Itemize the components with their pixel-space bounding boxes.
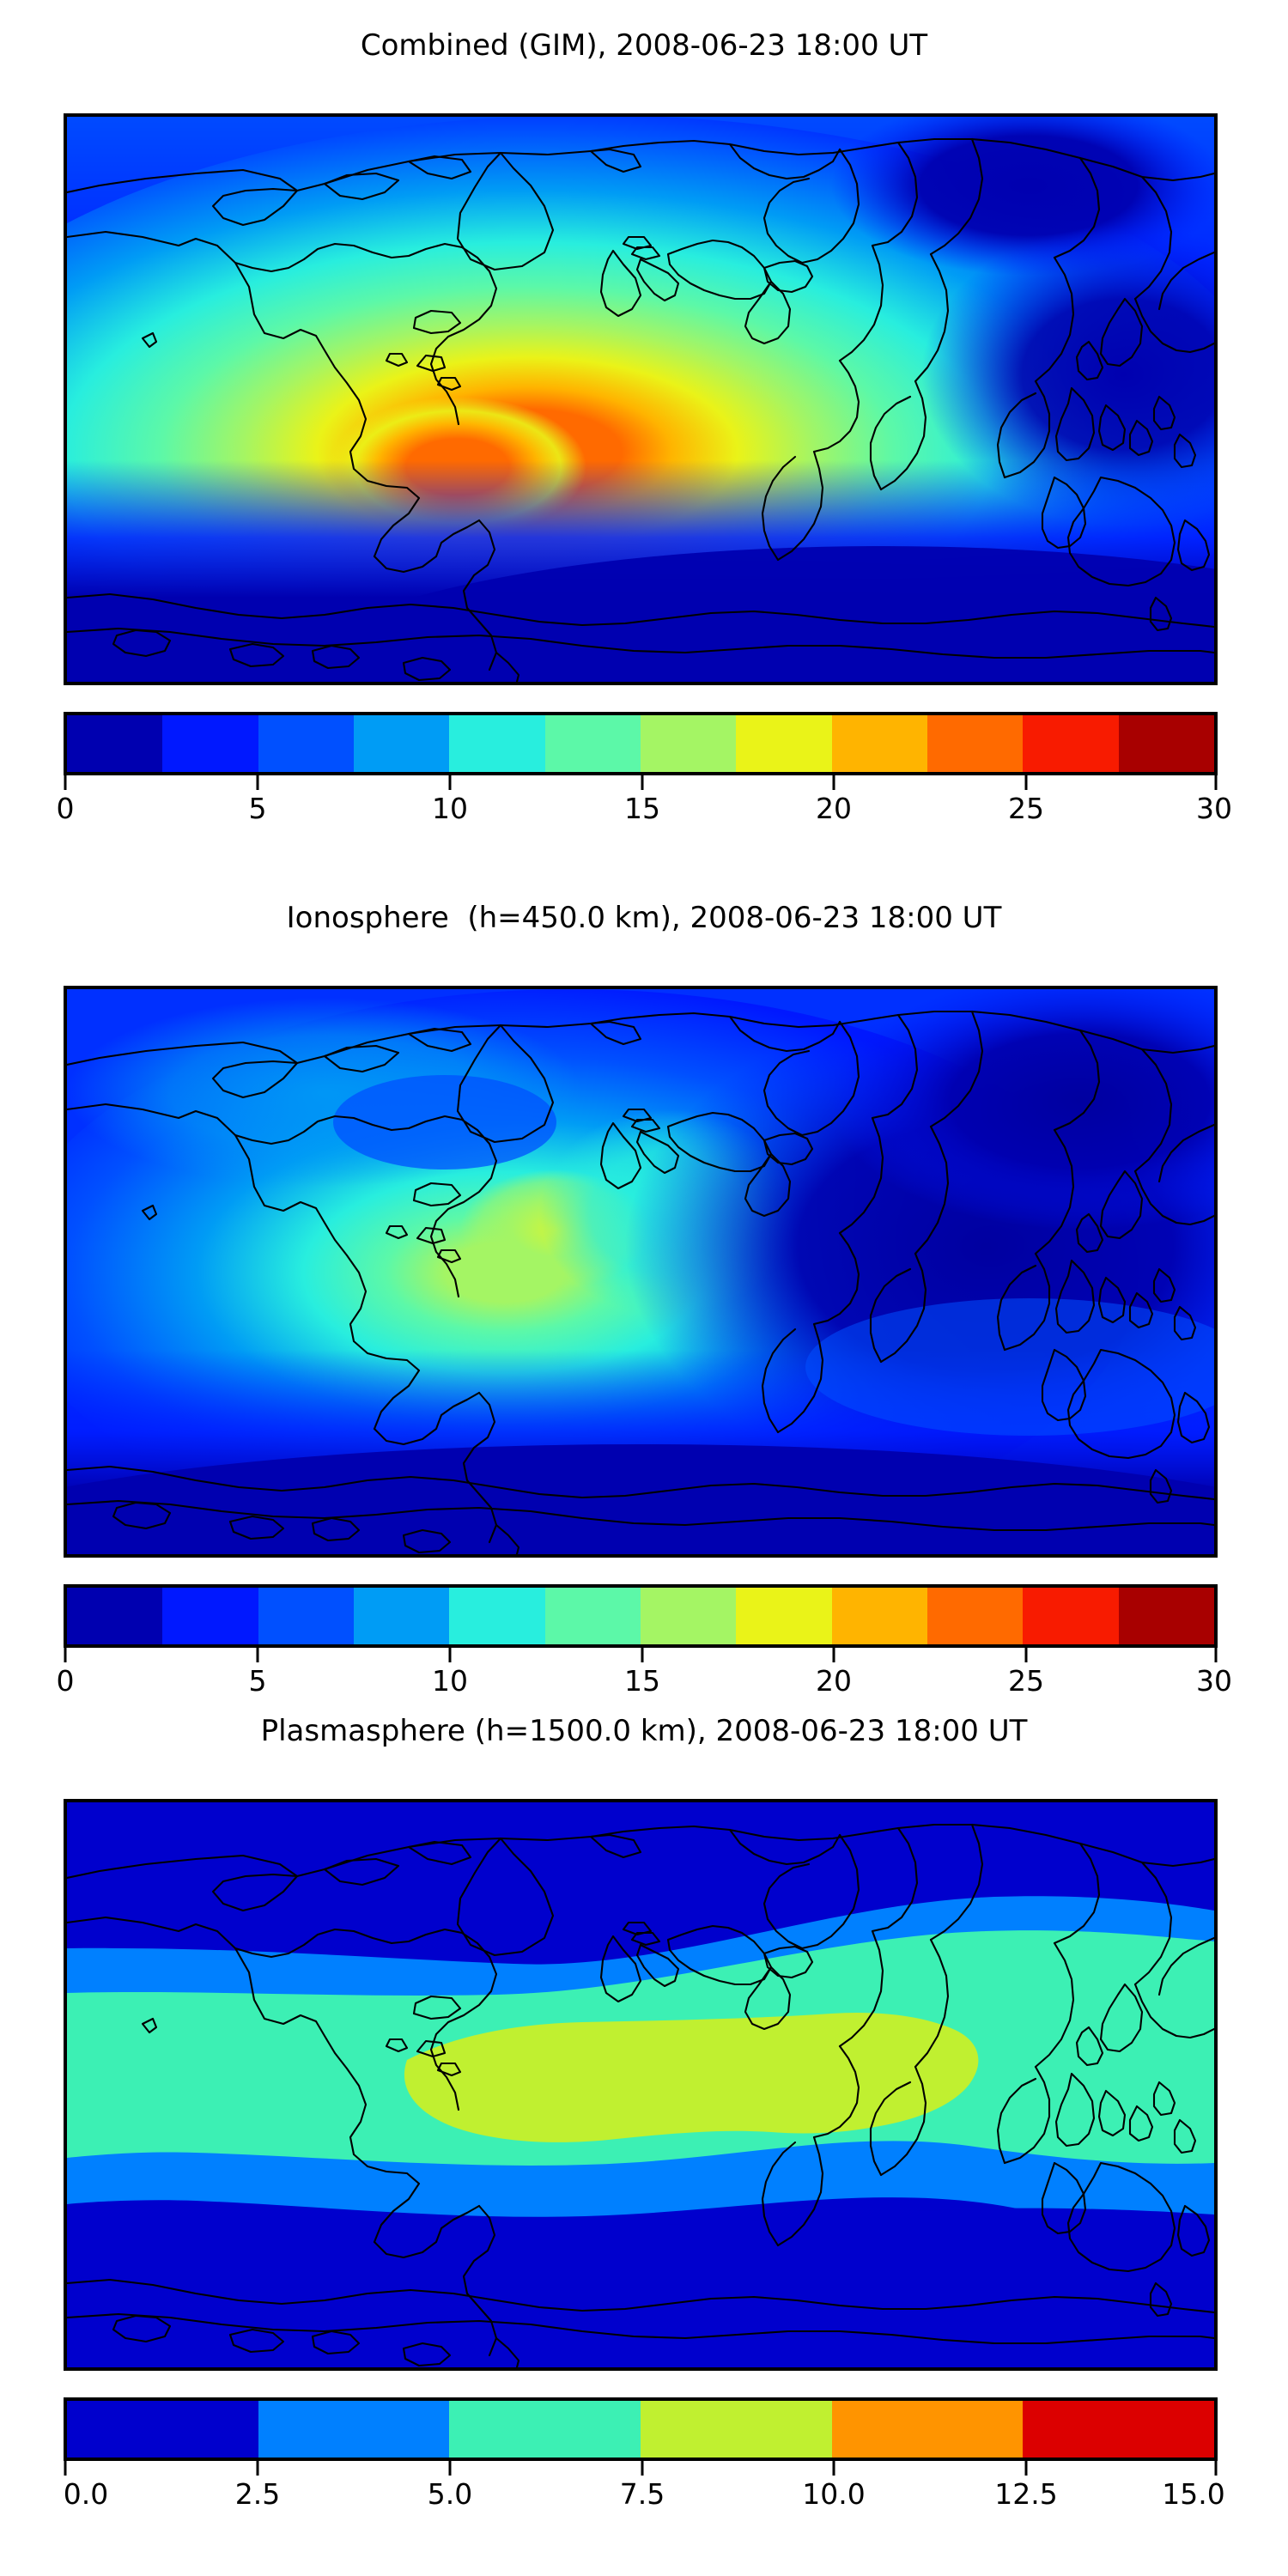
colorbar-plasmasphere-tick-3: 7.5 — [620, 2477, 665, 2511]
colorbar-plasmasphere-axis: 0.0 2.5 5.0 7.5 10.0 12.5 15.0 — [64, 2461, 1218, 2518]
coastlines-plasmasphere — [67, 1802, 1214, 2367]
colorbar-plasmasphere-tick-4: 10.0 — [802, 2477, 865, 2511]
coastlines-ionosphere — [67, 989, 1214, 1554]
map-ionosphere — [64, 986, 1218, 1558]
tec-figure: Combined (GIM), 2008-06-23 18:00 UT — [0, 0, 1288, 2576]
panel-title-plasmasphere: Plasmasphere (h=1500.0 km), 2008-06-23 1… — [0, 1714, 1288, 1748]
colorbar-ionosphere-tick-0: 0 — [57, 1664, 75, 1698]
colorbar-plasmasphere-tick-1: 2.5 — [235, 2477, 280, 2511]
map-plasmasphere — [64, 1799, 1218, 2371]
colorbar-plasmasphere-tick-2: 5.0 — [428, 2477, 472, 2511]
colorbar-ionosphere-tick-6: 30 — [1196, 1664, 1232, 1698]
colorbar-ionosphere-bands — [64, 1584, 1218, 1648]
colorbar-plasmasphere-tick-5: 12.5 — [994, 2477, 1057, 2511]
colorbar-ionosphere-tick-2: 10 — [432, 1664, 468, 1698]
colorbar-plasmasphere-bands — [64, 2397, 1218, 2461]
colorbar-ionosphere-tick-3: 15 — [624, 1664, 660, 1698]
colorbar-ionosphere-tick-4: 20 — [816, 1664, 852, 1698]
colorbar-ionosphere-tick-5: 25 — [1008, 1664, 1044, 1698]
panel-plasmasphere: Plasmasphere (h=1500.0 km), 2008-06-23 1… — [0, 0, 1288, 859]
colorbar-plasmasphere-tick-0: 0.0 — [64, 2477, 108, 2511]
colorbar-plasmasphere: 0.0 2.5 5.0 7.5 10.0 12.5 15.0 — [64, 2397, 1211, 2461]
colorbar-ionosphere-axis: 0 5 10 15 20 25 30 — [64, 1648, 1218, 1704]
panel-title-ionosphere: Ionosphere (h=450.0 km), 2008-06-23 18:0… — [0, 901, 1288, 935]
colorbar-plasmasphere-tick-6: 15.0 — [1162, 2477, 1224, 2511]
colorbar-ionosphere: 0 5 10 15 20 25 30 — [64, 1584, 1211, 1648]
colorbar-ionosphere-tick-1: 5 — [249, 1664, 267, 1698]
